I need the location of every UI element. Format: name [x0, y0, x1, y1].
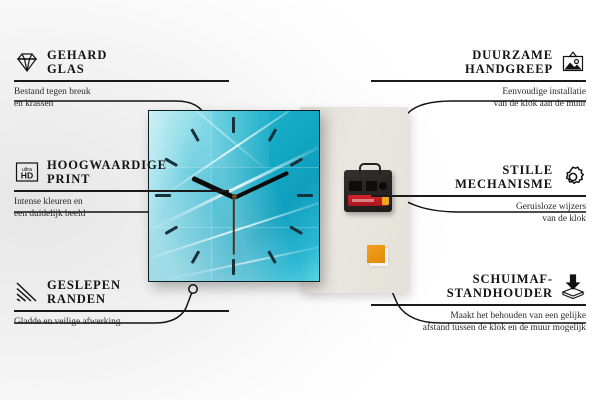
feature-desc: Bestand tegen breuk en krassen [14, 86, 229, 111]
divider [14, 80, 229, 82]
feature-title: DUURZAME HANDGREEP [465, 48, 553, 76]
feature-foam: SCHUIMAF- STANDHOUDER Maakt het behouden… [371, 272, 586, 334]
gear-icon [560, 164, 586, 190]
feature-title: GESLEPEN RANDEN [47, 278, 121, 306]
ultra-hd-icon: ultra HD [14, 159, 40, 185]
feature-print: ultra HD HOOGWAARDIGE PRINT Intense kleu… [14, 158, 229, 220]
feature-desc: Intense kleuren en een duidelijk beeld [14, 196, 229, 221]
svg-text:HD: HD [21, 171, 33, 181]
feature-desc: Gladde en veilige afwerking [14, 316, 229, 328]
divider [14, 310, 229, 312]
feature-title: GEHARD GLAS [47, 48, 107, 76]
feature-handle: DUURZAME HANDGREEP Eenvoudige installati… [371, 48, 586, 110]
divider [371, 304, 586, 306]
press-pad-icon [560, 273, 586, 299]
feature-glass: GEHARD GLAS Bestand tegen breuk en krass… [14, 48, 229, 110]
beveled-edge-icon [14, 279, 40, 305]
divider [14, 190, 229, 192]
feature-edges: GESLEPEN RANDEN Gladde en veilige afwerk… [14, 278, 229, 328]
foam-spacer-pad [367, 245, 385, 263]
infographic-canvas: GEHARD GLAS Bestand tegen breuk en krass… [0, 0, 600, 400]
divider [371, 80, 586, 82]
diamond-icon [14, 49, 40, 75]
feature-title: HOOGWAARDIGE PRINT [47, 158, 167, 186]
feature-desc: Maakt het behouden van een gelijke afsta… [371, 310, 586, 335]
framed-picture-icon [560, 49, 586, 75]
feature-title: STILLE MECHANISME [455, 163, 553, 191]
divider [371, 195, 586, 197]
clock-second-hand [233, 197, 235, 255]
feature-title: SCHUIMAF- STANDHOUDER [447, 272, 553, 300]
feature-desc: Geruisloze wijzers van de klok [371, 201, 586, 226]
feature-mechanism: STILLE MECHANISME Geruisloze wijzers van… [371, 163, 586, 225]
clock-hand-hub [232, 194, 237, 199]
feature-desc: Eenvoudige installatie van de klok aan d… [371, 86, 586, 111]
